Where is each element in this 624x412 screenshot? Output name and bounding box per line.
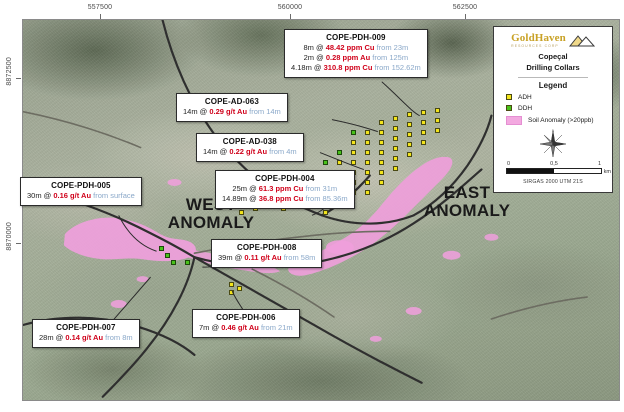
graticule-tick-left-2: [16, 243, 21, 244]
collar-adh[interactable]: [407, 122, 412, 127]
scale-bar: 0 0,5 1 km: [506, 161, 602, 174]
collar-adh[interactable]: [379, 180, 384, 185]
callout-title: COPE-PDH-009: [291, 33, 421, 42]
collar-ddh[interactable]: [171, 260, 176, 265]
graticule-label-top-2: 560000: [278, 4, 303, 11]
graticule-label-left-2: 8870000: [6, 222, 13, 251]
callout-row: 14m @ 0.22 g/t Au from 4m: [203, 147, 297, 157]
collar-adh[interactable]: [379, 130, 384, 135]
collar-adh[interactable]: [365, 190, 370, 195]
collar-adh[interactable]: [407, 142, 412, 147]
collar-adh[interactable]: [393, 136, 398, 141]
collar-adh[interactable]: [407, 152, 412, 157]
collar-adh[interactable]: [229, 290, 234, 295]
collar-adh[interactable]: [229, 282, 234, 287]
callout-cope-pdh-004[interactable]: COPE-PDH-004 25m @ 61.3 ppm Cu from 31m …: [215, 170, 355, 209]
graticule-label-left-1: 8872500: [6, 57, 13, 86]
collar-adh[interactable]: [421, 110, 426, 115]
callout-title: COPE-PDH-006: [199, 313, 293, 322]
collar-adh[interactable]: [365, 170, 370, 175]
logo-name: GoldHaven: [511, 33, 566, 44]
legend-item-label: ADH: [518, 94, 532, 101]
callout-row: 14.89m @ 36.8 ppm Cu from 85.36m: [222, 194, 348, 204]
legend-item-soil-anomaly[interactable]: Soil Anomaly (>20ppb): [506, 116, 606, 125]
graticule-tick-left-1: [16, 78, 21, 79]
collar-adh[interactable]: [365, 150, 370, 155]
legend-heading: Legend: [500, 81, 606, 90]
callout-title: COPE-AD-038: [203, 137, 297, 146]
exploration-map-figure: 557500 560000 562500 8872500 8870000: [0, 0, 624, 412]
callout-title: COPE-PDH-007: [39, 323, 133, 332]
collar-adh[interactable]: [237, 286, 242, 291]
collar-ddh[interactable]: [351, 130, 356, 135]
callout-row: 7m @ 0.46 g/t Au from 21m: [199, 323, 293, 333]
legend-title-line1: Copeçal: [500, 52, 606, 62]
collar-adh[interactable]: [365, 130, 370, 135]
callout-row: 30m @ 0.16 g/t Au from surface: [27, 191, 135, 201]
mountain-logo-icon: [569, 34, 595, 48]
legend-item-adh[interactable]: ADH: [506, 94, 606, 101]
legend-panel[interactable]: GoldHaven RESOURCES CORP Copeçal Drillin…: [493, 26, 613, 193]
graticule-label-top-1: 557500: [88, 4, 113, 11]
callout-title: COPE-PDH-008: [218, 243, 315, 252]
collar-ddh[interactable]: [337, 150, 342, 155]
legend-title-line2: Drilling Collars: [500, 63, 606, 73]
callout-row: 25m @ 61.3 ppm Cu from 31m: [222, 184, 348, 194]
collar-adh[interactable]: [421, 130, 426, 135]
callout-cope-pdh-006[interactable]: COPE-PDH-006 7m @ 0.46 g/t Au from 21m: [192, 309, 300, 338]
scale-segment-light: [554, 169, 601, 173]
scale-unit-label: km: [604, 169, 611, 175]
collar-adh[interactable]: [435, 108, 440, 113]
svg-text:N: N: [552, 129, 554, 133]
anomaly-polygon-icon: [506, 116, 522, 125]
scale-segment-dark: [507, 169, 554, 173]
callout-row: 14m @ 0.29 g/t Au from 14m: [183, 107, 281, 117]
collar-adh[interactable]: [351, 140, 356, 145]
scale-tick-0: 0: [507, 161, 510, 167]
ddh-square-icon: [506, 105, 512, 111]
collar-adh[interactable]: [393, 166, 398, 171]
graticule-label-top-3: 562500: [453, 4, 478, 11]
collar-adh[interactable]: [407, 112, 412, 117]
north-arrow: N: [500, 129, 606, 159]
legend-item-label: DDH: [518, 105, 532, 112]
callout-title: COPE-PDH-004: [222, 174, 348, 183]
callout-cope-pdh-008[interactable]: COPE-PDH-008 39m @ 0.11 g/t Au from 58m: [211, 239, 322, 268]
collar-adh[interactable]: [407, 132, 412, 137]
callout-cope-pdh-009[interactable]: COPE-PDH-009 8m @ 48.42 ppm Cu from 23m …: [284, 29, 428, 78]
collar-adh[interactable]: [393, 146, 398, 151]
logo-subtitle: RESOURCES CORP: [511, 45, 566, 48]
collar-adh[interactable]: [365, 180, 370, 185]
collar-adh[interactable]: [365, 140, 370, 145]
callout-row: 4.18m @ 310.8 ppm Cu from 152.62m: [291, 63, 421, 73]
company-logo: GoldHaven RESOURCES CORP: [500, 33, 606, 48]
collar-adh[interactable]: [393, 116, 398, 121]
legend-item-label: Soil Anomaly (>20ppb): [528, 117, 594, 124]
collar-adh[interactable]: [435, 118, 440, 123]
legend-item-ddh[interactable]: DDH: [506, 105, 606, 112]
collar-adh[interactable]: [351, 160, 356, 165]
callout-row: 28m @ 0.14 g/t Au from 8m: [39, 333, 133, 343]
collar-adh[interactable]: [379, 170, 384, 175]
collar-adh[interactable]: [365, 160, 370, 165]
collar-adh[interactable]: [337, 160, 342, 165]
scale-tick-mid: 0,5: [550, 161, 558, 167]
track-minor-4: [491, 297, 587, 319]
collar-adh[interactable]: [379, 160, 384, 165]
collar-adh[interactable]: [421, 120, 426, 125]
adh-square-icon: [506, 94, 512, 100]
crs-label: SIRGAS 2000 UTM 21S: [500, 179, 606, 185]
collar-adh[interactable]: [379, 140, 384, 145]
callout-title: COPE-PDH-005: [27, 181, 135, 190]
collar-adh[interactable]: [393, 126, 398, 131]
collar-adh[interactable]: [435, 128, 440, 133]
track-minor-3: [23, 112, 141, 148]
collar-adh[interactable]: [351, 150, 356, 155]
callout-cope-ad-063[interactable]: COPE-AD-063 14m @ 0.29 g/t Au from 14m: [176, 93, 288, 122]
legend-divider: [518, 77, 588, 78]
callout-title: COPE-AD-063: [183, 97, 281, 106]
compass-rose-icon: N: [538, 129, 568, 159]
scale-tick-max: 1: [598, 161, 601, 167]
collar-adh[interactable]: [421, 140, 426, 145]
callout-cope-pdh-005[interactable]: COPE-PDH-005 30m @ 0.16 g/t Au from surf…: [20, 177, 142, 206]
collar-adh[interactable]: [323, 210, 328, 215]
callout-cope-ad-038[interactable]: COPE-AD-038 14m @ 0.22 g/t Au from 4m: [196, 133, 304, 162]
collar-adh[interactable]: [379, 120, 384, 125]
collar-ddh[interactable]: [185, 260, 190, 265]
collar-ddh[interactable]: [165, 253, 170, 258]
collar-adh[interactable]: [379, 150, 384, 155]
callout-row: 2m @ 0.28 ppm Au from 125m: [291, 53, 421, 63]
collar-ddh[interactable]: [323, 160, 328, 165]
collar-ddh[interactable]: [159, 246, 164, 251]
callout-row: 39m @ 0.11 g/t Au from 58m: [218, 253, 315, 263]
callout-row: 8m @ 48.42 ppm Cu from 23m: [291, 43, 421, 53]
callout-cope-pdh-007[interactable]: COPE-PDH-007 28m @ 0.14 g/t Au from 8m: [32, 319, 140, 348]
collar-adh[interactable]: [393, 156, 398, 161]
